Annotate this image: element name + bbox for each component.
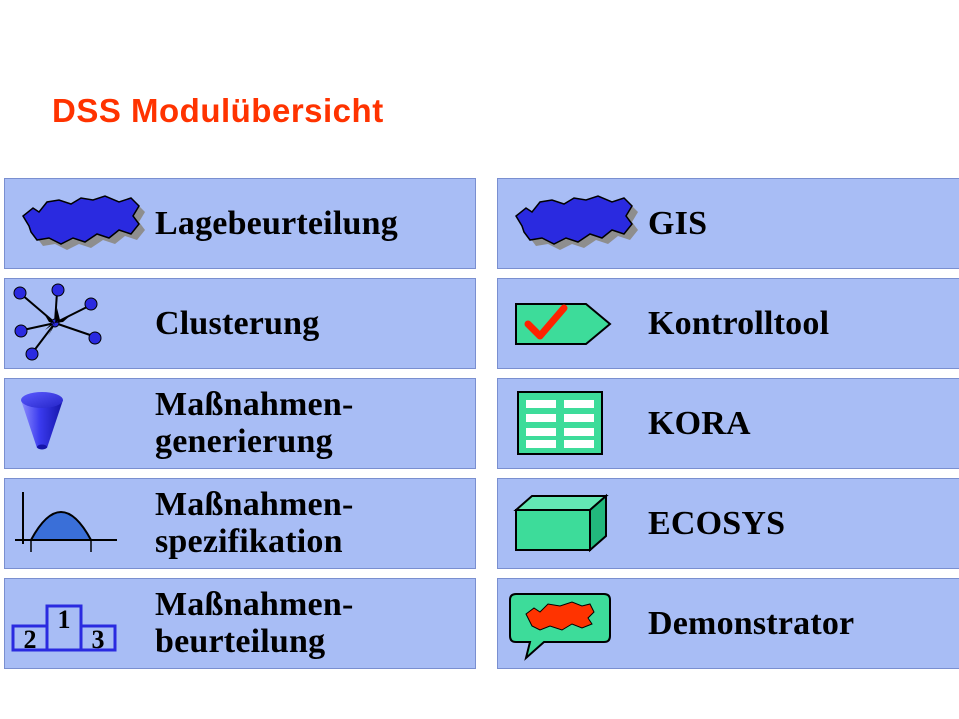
module-column-left: Lagebeurteilung [4, 178, 479, 678]
green-cube-icon [498, 478, 648, 569]
module-massnahmenspezifikation[interactable]: Maßnahmen- spezifikation [4, 478, 476, 569]
module-massnahmenbeurteilung[interactable]: 1 2 3 Maßnahmen- beurteilung [4, 578, 476, 669]
switzerland-map-blue-icon [498, 178, 648, 269]
podium-ranking-icon: 1 2 3 [5, 578, 155, 669]
module-label: Maßnahmen- spezifikation [155, 487, 353, 560]
module-label: Maßnahmen- beurteilung [155, 587, 353, 660]
podium-number-first: 1 [58, 605, 71, 634]
module-column-right: GIS Kontrolltool [497, 178, 959, 678]
module-clusterung[interactable]: Clusterung [4, 278, 476, 369]
module-label: Kontrolltool [648, 307, 829, 341]
cluster-network-icon [5, 278, 155, 369]
module-lagebeurteilung[interactable]: Lagebeurteilung [4, 178, 476, 269]
green-speech-bubble-map-icon [498, 578, 648, 669]
module-demonstrator[interactable]: Demonstrator [497, 578, 959, 669]
module-label: Demonstrator [648, 607, 854, 641]
module-label: GIS [648, 207, 707, 241]
module-ecosys[interactable]: ECOSYS [497, 478, 959, 569]
module-label: Maßnahmen- generierung [155, 387, 353, 460]
module-label: Clusterung [155, 307, 319, 341]
green-table-grid-icon [498, 378, 648, 469]
green-tag-check-icon [498, 278, 648, 369]
blue-cone-icon [5, 378, 155, 469]
module-gis[interactable]: GIS [497, 178, 959, 269]
module-massnahmengenerierung[interactable]: Maßnahmen- generierung [4, 378, 476, 469]
module-kontrolltool[interactable]: Kontrolltool [497, 278, 959, 369]
page-title: DSS Modulübersicht [52, 92, 384, 130]
module-label: ECOSYS [648, 507, 785, 541]
module-label: Lagebeurteilung [155, 207, 398, 241]
switzerland-map-blue-icon [5, 178, 155, 269]
curve-chart-icon [5, 478, 155, 569]
module-kora[interactable]: KORA [497, 378, 959, 469]
module-label: KORA [648, 407, 751, 441]
podium-number-third: 3 [92, 625, 105, 654]
podium-number-second: 2 [24, 625, 37, 654]
